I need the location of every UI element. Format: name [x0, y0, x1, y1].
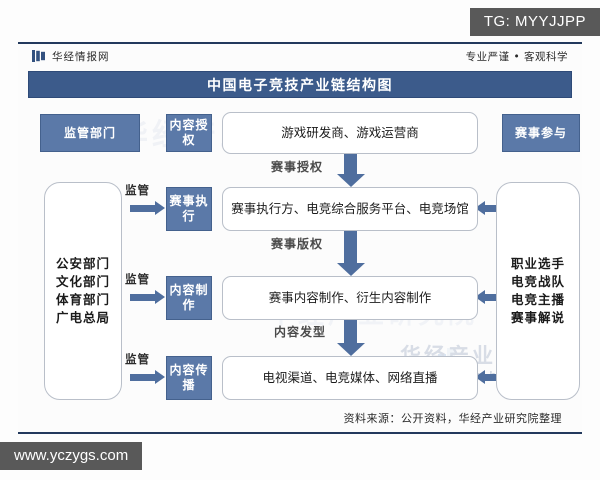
stage-tag-content-license: 内容授权 [166, 114, 212, 152]
page-title: 中国电子竞技产业链结构图 [207, 75, 393, 95]
supervise-arrow-2 [130, 294, 156, 301]
stage-box-distribution-channels: 电视渠道、电竞媒体、网络直播 [222, 356, 478, 400]
regulator-column-header: 监管部门 [40, 114, 140, 152]
participant-column-header: 赛事参与 [502, 114, 580, 152]
book-logo-icon [32, 50, 45, 62]
supervise-label-3: 监管 [125, 351, 150, 367]
stage-tag-event-execution-label: 赛事执行 [167, 194, 211, 224]
supervise-arrow-1 [130, 205, 156, 212]
flow-label-event-authorization: 赛事授权 [271, 158, 323, 175]
brand-left-group: 华经情报网 [32, 49, 110, 64]
regulator-line-2: 文化部门 [56, 273, 110, 291]
screenshot-root: TG: MYYJJPP 华经情报网 专业严谨 • 客观科学 中国电子竞技产业链结… [0, 0, 600, 480]
flow-label-content-release: 内容发型 [274, 323, 326, 340]
supervise-arrow-3 [130, 374, 156, 381]
stage-tag-event-execution: 赛事执行 [166, 187, 212, 231]
supervise-label-1: 监管 [125, 182, 150, 198]
stage-box-content-production: 赛事内容制作、衍生内容制作 [222, 276, 478, 320]
regulator-line-1: 公安部门 [56, 255, 110, 273]
flow-arrow-down-1 [344, 154, 357, 175]
stage-box-distribution-channels-label: 电视渠道、电竞媒体、网络直播 [262, 370, 437, 387]
brand-slogan: 专业严谨 • 客观科学 [466, 49, 568, 64]
diagram-canvas: 华经产业研究院 华经产业研究院 监管部门 赛事参与 内容授权 赛事执行 内容制作… [18, 104, 582, 404]
flow-label-event-copyright: 赛事版权 [271, 235, 323, 252]
infographic-card: 华经情报网 专业严谨 • 客观科学 中国电子竞技产业链结构图 华经产业研究院 华… [18, 42, 582, 434]
stage-tag-content-license-label: 内容授权 [167, 118, 211, 148]
flow-arrow-down-2 [344, 231, 357, 264]
participant-line-3: 电竞主播 [511, 291, 565, 309]
participant-list-box: 职业选手 电竞战队 电竞主播 赛事解说 [496, 182, 580, 400]
stage-tag-content-distribution: 内容传播 [166, 356, 212, 400]
source-note: 资料来源：公开资料，华经产业研究院整理 [344, 410, 563, 426]
stage-box-game-developers-label: 游戏研发商、游戏运营商 [281, 125, 419, 142]
regulator-line-3: 体育部门 [56, 291, 110, 309]
stage-box-game-developers: 游戏研发商、游戏运营商 [222, 112, 478, 154]
regulator-line-4: 广电总局 [56, 309, 110, 327]
supervise-label-2: 监管 [125, 271, 150, 287]
participant-line-2: 电竞战队 [511, 273, 565, 291]
stage-tag-content-production-label: 内容制作 [167, 283, 211, 313]
stage-box-event-operators-label: 赛事执行方、电竞综合服务平台、电竞场馆 [231, 201, 469, 218]
stage-box-event-operators: 赛事执行方、电竞综合服务平台、电竞场馆 [222, 187, 478, 231]
brand-bar: 华经情报网 专业严谨 • 客观科学 [18, 44, 582, 68]
participant-line-4: 赛事解说 [511, 309, 565, 327]
participant-line-1: 职业选手 [511, 255, 565, 273]
telegram-tag-overlay: TG: MYYJJPP [470, 8, 600, 36]
regulator-column-header-label: 监管部门 [64, 126, 116, 141]
brand-name: 华经情报网 [52, 49, 110, 64]
chart-title-bar: 中国电子竞技产业链结构图 [28, 71, 572, 98]
regulator-list-box: 公安部门 文化部门 体育部门 广电总局 [44, 182, 122, 400]
participant-column-header-label: 赛事参与 [515, 126, 567, 141]
stage-tag-content-distribution-label: 内容传播 [167, 363, 211, 393]
stage-box-content-production-label: 赛事内容制作、衍生内容制作 [269, 290, 432, 307]
flow-arrow-down-3 [344, 320, 357, 344]
stage-tag-content-production: 内容制作 [166, 276, 212, 320]
site-url-overlay: www.yczygs.com [0, 442, 142, 470]
